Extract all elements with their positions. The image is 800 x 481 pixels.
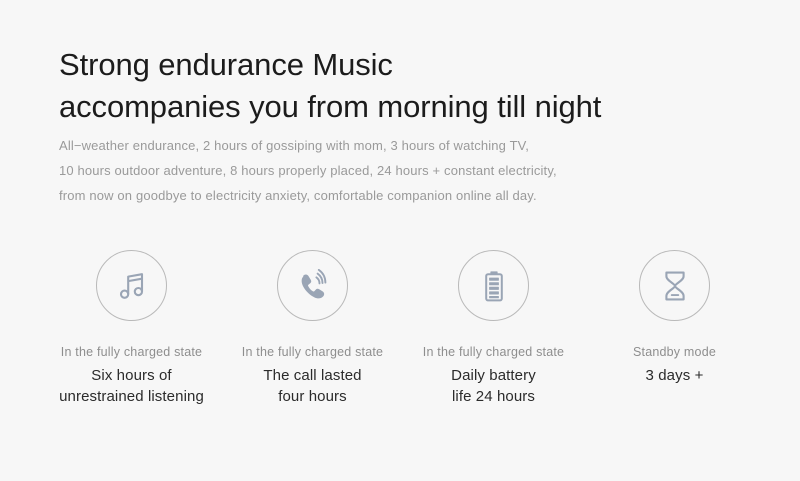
feature-value: Daily battery life 24 hours	[451, 365, 536, 407]
promo-page: Strong endurance Music accompanies you f…	[0, 0, 800, 481]
feature-item-standby: Standby mode 3 days +	[584, 250, 765, 407]
feature-item-battery: In the fully charged state Daily battery…	[403, 250, 584, 407]
page-title: Strong endurance Music accompanies you f…	[59, 44, 759, 128]
feature-label: In the fully charged state	[423, 344, 564, 361]
feature-value: 3 days +	[646, 365, 704, 386]
feature-label: In the fully charged state	[242, 344, 383, 361]
feature-item-call: In the fully charged state The call last…	[222, 250, 403, 407]
icon-circle	[639, 250, 710, 321]
feature-label: Standby mode	[633, 344, 716, 361]
feature-label: In the fully charged state	[61, 344, 202, 361]
icon-circle	[277, 250, 348, 321]
hero-description: All−weather endurance, 2 hours of gossip…	[59, 133, 719, 208]
feature-value: The call lasted four hours	[263, 365, 361, 407]
battery-icon	[477, 269, 511, 303]
feature-value: Six hours of unrestrained listening	[59, 365, 204, 407]
hourglass-icon	[658, 269, 692, 303]
icon-circle	[96, 250, 167, 321]
phone-call-icon	[296, 269, 330, 303]
icon-circle	[458, 250, 529, 321]
feature-list: In the fully charged state Six hours of …	[0, 250, 800, 407]
feature-item-music: In the fully charged state Six hours of …	[41, 250, 222, 407]
music-note-icon	[115, 269, 149, 303]
